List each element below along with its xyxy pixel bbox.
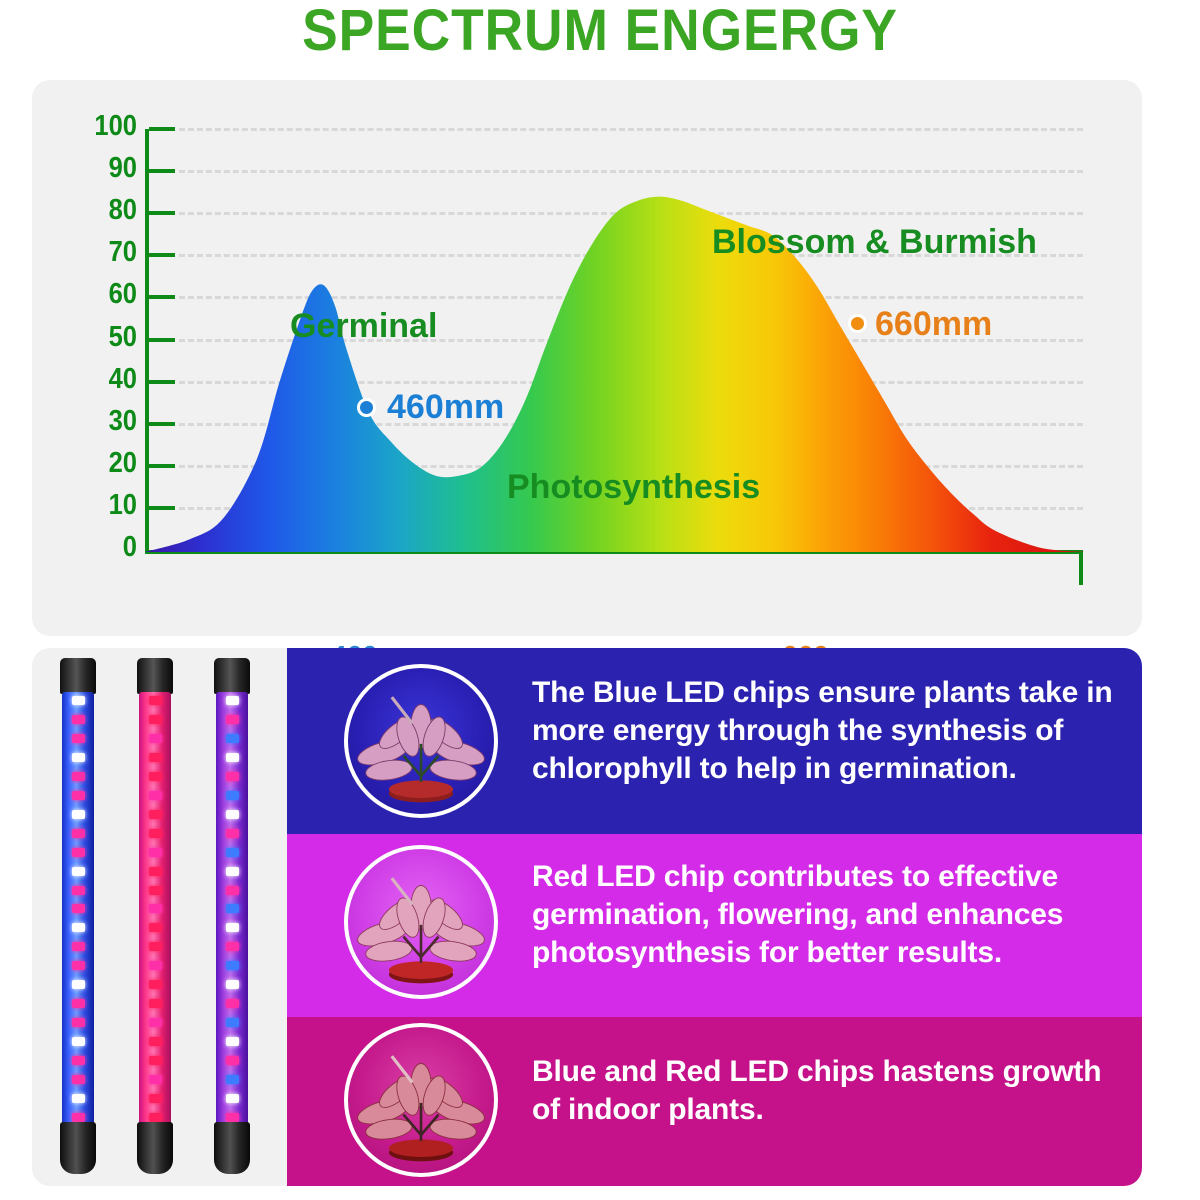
features-card: The Blue LED chips ensure plants take in… [32, 648, 1142, 1186]
plant-illustration [348, 849, 494, 995]
led-chip [72, 942, 85, 951]
tube-body [216, 692, 248, 1126]
tube-cap-bottom [60, 1122, 96, 1174]
tube-cap-bottom [214, 1122, 250, 1174]
led-chip [72, 772, 85, 781]
led-chip [226, 961, 239, 970]
feature-text: The Blue LED chips ensure plants take in… [532, 674, 1132, 788]
plant-illustration [348, 1027, 494, 1173]
led-chip [72, 886, 85, 895]
plant-illustration [348, 668, 494, 814]
led-chip [72, 904, 85, 913]
y-axis-tick-label: 80 [81, 194, 137, 227]
red-led-tube [137, 658, 173, 1174]
chart-label-germinal: Germinal [290, 307, 437, 346]
led-chip [149, 791, 162, 800]
feature-row: Red LED chip contributes to effective ge… [287, 834, 1142, 1017]
led-chip [226, 753, 239, 762]
led-chip [226, 904, 239, 913]
led-chip [226, 886, 239, 895]
led-chip [149, 715, 162, 724]
x-axis-end-tick [1079, 550, 1083, 585]
led-chip [72, 715, 85, 724]
led-chip [226, 980, 239, 989]
led-chip [149, 923, 162, 932]
plant-photo-blue-red [344, 1023, 498, 1177]
marker-dot-660-icon [848, 314, 867, 333]
tube-cap-bottom [137, 1122, 173, 1174]
led-chip [72, 829, 85, 838]
led-chip [149, 886, 162, 895]
feature-row: The Blue LED chips ensure plants take in… [287, 648, 1142, 834]
led-chip [72, 1113, 85, 1122]
led-chip [226, 923, 239, 932]
led-chip [72, 810, 85, 819]
led-chip [149, 848, 162, 857]
led-chip [226, 867, 239, 876]
chart-plot-region: 0102030405060708090100 [32, 80, 1142, 636]
blue-red-led-tube [214, 658, 250, 1174]
led-chip [72, 999, 85, 1008]
led-chip [149, 696, 162, 705]
led-chip [226, 1075, 239, 1084]
y-axis-tick-label: 30 [81, 405, 137, 438]
led-chip [149, 1075, 162, 1084]
plant-photo-red [344, 845, 498, 999]
led-chip [226, 734, 239, 743]
led-chip [72, 980, 85, 989]
led-chip [226, 1018, 239, 1027]
y-axis-tick-label: 20 [81, 447, 137, 480]
led-chip [226, 696, 239, 705]
led-chip [149, 942, 162, 951]
led-chip [72, 1037, 85, 1046]
led-chip [226, 942, 239, 951]
y-axis-tick-label: 40 [81, 363, 137, 396]
feature-text: Red LED chip contributes to effective ge… [532, 858, 1132, 972]
led-chip [226, 715, 239, 724]
led-chip [226, 810, 239, 819]
led-chip [149, 734, 162, 743]
led-chip [226, 848, 239, 857]
led-chip [72, 1075, 85, 1084]
y-axis-tick-label: 60 [81, 278, 137, 311]
spectrum-chart-card: 0102030405060708090100 [32, 80, 1142, 636]
chart-label-blossom: Blossom & Burmish [712, 223, 1037, 262]
y-axis-tick-label: 50 [81, 321, 137, 354]
led-chip [149, 867, 162, 876]
led-chip [149, 961, 162, 970]
led-chip [72, 1094, 85, 1103]
led-chip [149, 753, 162, 762]
plant-photo-blue [344, 664, 498, 818]
tube-cap-top [60, 658, 96, 694]
y-axis-tick-label: 0 [81, 531, 137, 564]
led-chip [149, 829, 162, 838]
led-chip-strip [144, 696, 166, 1122]
y-axis-tick-label: 100 [81, 110, 137, 143]
led-chip [226, 1094, 239, 1103]
led-chip [149, 1037, 162, 1046]
led-chip [149, 1094, 162, 1103]
led-chip [149, 1056, 162, 1065]
led-chip [149, 810, 162, 819]
led-chip [72, 848, 85, 857]
led-chip [149, 904, 162, 913]
led-chip [72, 923, 85, 932]
y-axis-tick-label: 10 [81, 489, 137, 522]
led-chip [149, 980, 162, 989]
tube-cap-top [214, 658, 250, 694]
chart-label-photosynthesis: Photosynthesis [507, 468, 760, 507]
blue-led-tube [60, 658, 96, 1174]
led-chip [226, 1037, 239, 1046]
led-chip [149, 1113, 162, 1122]
led-chip [149, 999, 162, 1008]
led-chip [72, 1018, 85, 1027]
chart-marker-660-label: 660mm [875, 305, 992, 344]
led-chip [72, 734, 85, 743]
led-chip [226, 1056, 239, 1065]
led-chip-strip [221, 696, 243, 1122]
feature-text: Blue and Red LED chips hastens growth of… [532, 1053, 1132, 1129]
led-chip [226, 999, 239, 1008]
led-chip [72, 791, 85, 800]
tube-cap-top [137, 658, 173, 694]
led-chip [72, 961, 85, 970]
led-chip [149, 772, 162, 781]
led-chip [72, 696, 85, 705]
marker-dot-460-icon [357, 398, 376, 417]
led-chip [226, 1113, 239, 1122]
y-axis-tick-label: 90 [81, 152, 137, 185]
led-chip [72, 1056, 85, 1065]
led-chip [226, 772, 239, 781]
led-chip [149, 1018, 162, 1027]
y-axis-tick-label: 70 [81, 236, 137, 269]
tube-body [139, 692, 171, 1126]
feature-row: Blue and Red LED chips hastens growth of… [287, 1017, 1142, 1186]
led-chip [226, 791, 239, 800]
led-chip [72, 753, 85, 762]
led-chip [226, 829, 239, 838]
led-chip [72, 867, 85, 876]
page-title: SPECTRUM ENGERGY [48, 0, 1152, 66]
tube-body [62, 692, 94, 1126]
chart-marker-460-label: 460mm [387, 388, 504, 427]
led-chip-strip [67, 696, 89, 1122]
